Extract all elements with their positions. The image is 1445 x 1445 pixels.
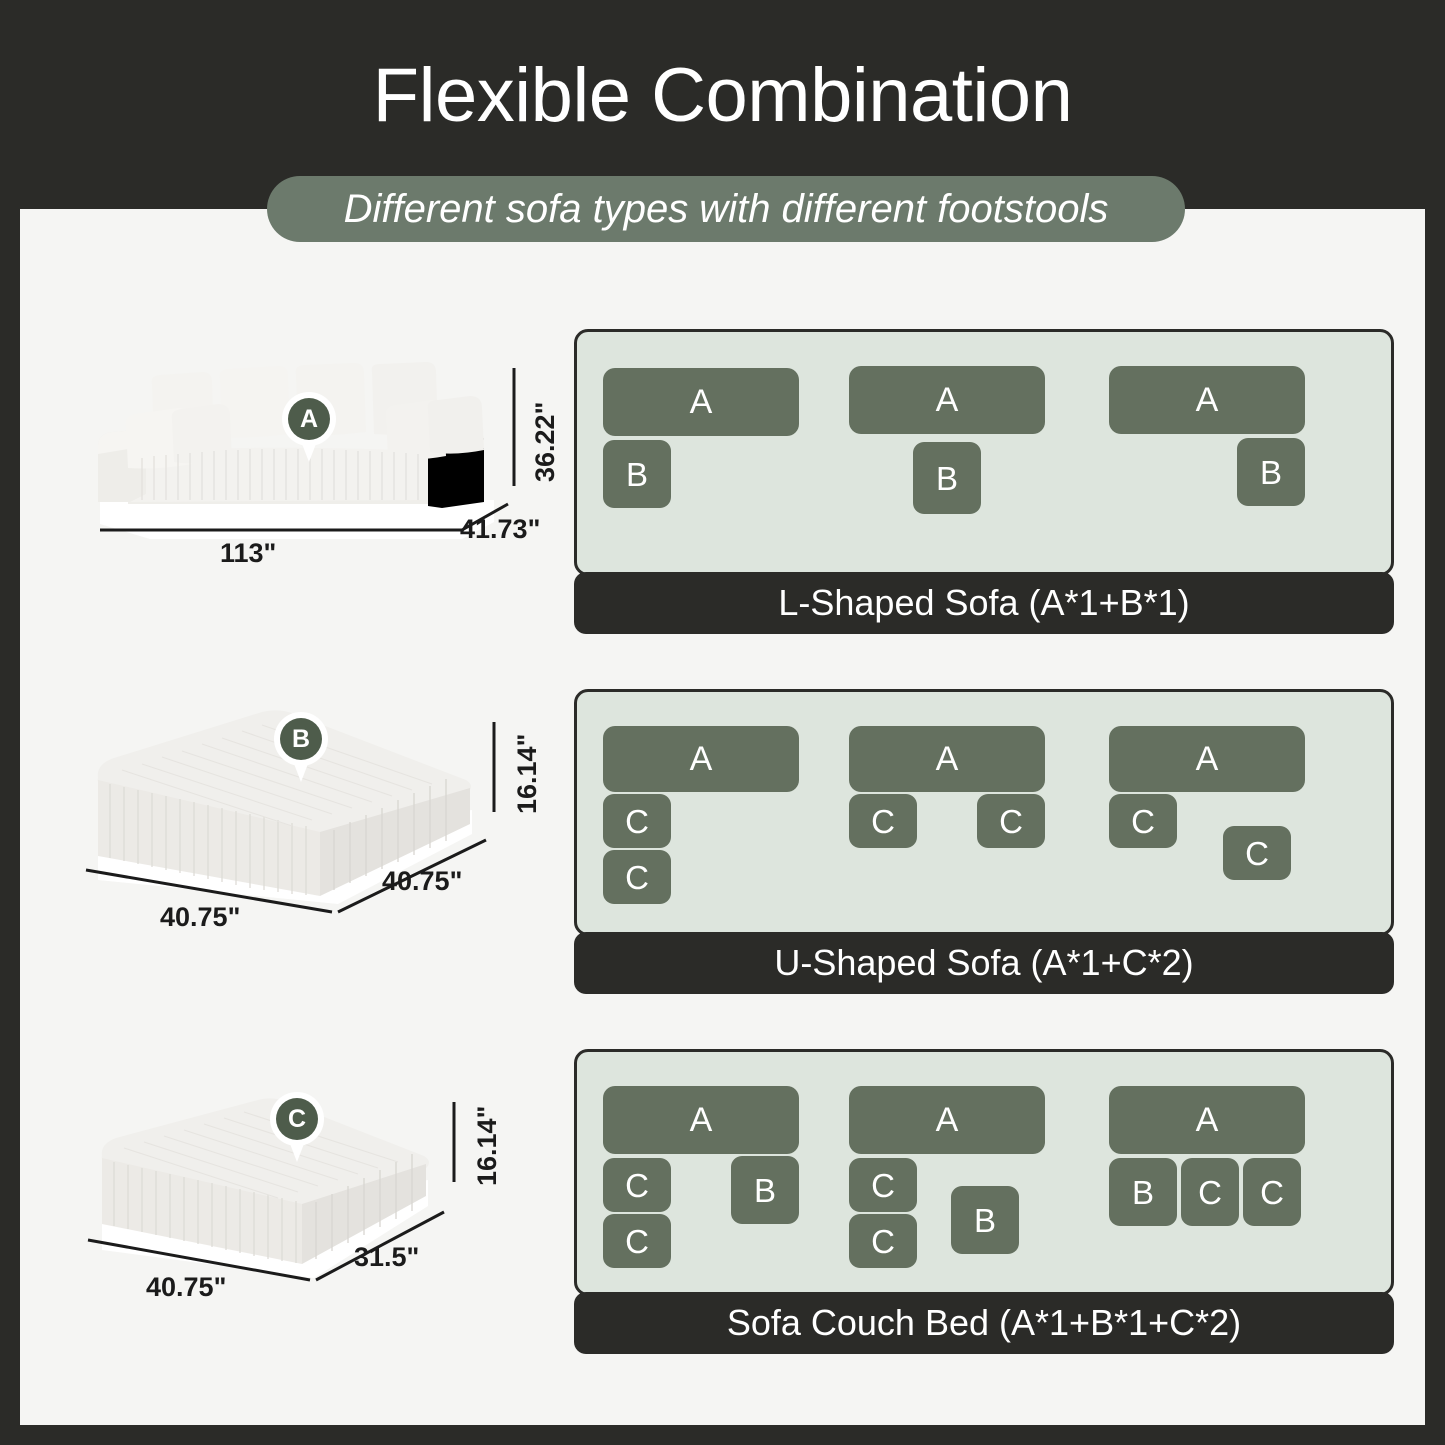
infographic-root: Flexible Combination Different sofa type… bbox=[0, 0, 1445, 1445]
content-sheet: A 113" 41.73" 36.22" bbox=[20, 209, 1425, 1425]
module-block-c: C bbox=[1109, 794, 1177, 848]
panel-board: ABABAB bbox=[574, 329, 1394, 576]
module-block-b: B bbox=[603, 440, 671, 508]
module-block-a: A bbox=[1109, 1086, 1305, 1154]
module-block-c: C bbox=[603, 794, 671, 848]
dim-depth-a: 41.73" bbox=[460, 514, 540, 545]
module-block-c: C bbox=[849, 1158, 917, 1212]
module-block-a: A bbox=[1109, 366, 1305, 434]
panel-caption: U-Shaped Sofa (A*1+C*2) bbox=[574, 932, 1394, 994]
pin-bubble: A bbox=[282, 392, 336, 446]
pin-label: C bbox=[276, 1098, 318, 1140]
panel-caption-label: Sofa Couch Bed (A*1+B*1+C*2) bbox=[727, 1303, 1241, 1343]
module-block-b: B bbox=[1109, 1158, 1177, 1226]
module-block-a: A bbox=[849, 726, 1045, 792]
dim-depth-b: 40.75" bbox=[382, 866, 462, 897]
module-block-b: B bbox=[951, 1186, 1019, 1254]
panel-caption-label: U-Shaped Sofa (A*1+C*2) bbox=[774, 943, 1193, 983]
dim-depth-c: 31.5" bbox=[354, 1242, 419, 1273]
dim-width-a: 113" bbox=[220, 538, 276, 569]
module-block-a: A bbox=[603, 1086, 799, 1154]
pin-marker-a: A bbox=[282, 392, 336, 462]
module-block-a: A bbox=[603, 726, 799, 792]
module-block-b: B bbox=[913, 442, 981, 514]
module-block-c: C bbox=[603, 850, 671, 904]
module-block-c: C bbox=[1243, 1158, 1301, 1226]
pin-label: B bbox=[280, 718, 322, 760]
page-title: Flexible Combination bbox=[0, 52, 1445, 140]
config-panel-l-shaped: ABABAB L-Shaped Sofa (A*1+B*1) bbox=[574, 329, 1394, 634]
module-block-a: A bbox=[603, 368, 799, 436]
panel-board: ACCBACCBABCC bbox=[574, 1049, 1394, 1296]
pin-marker-b: B bbox=[274, 712, 328, 782]
dim-height-c: 16.14" bbox=[472, 1106, 503, 1186]
product-card-a: A 113" 41.73" 36.22" bbox=[42, 334, 562, 634]
dim-height-a: 36.22" bbox=[530, 402, 561, 482]
pin-bubble: B bbox=[274, 712, 328, 766]
module-block-c: C bbox=[1223, 826, 1291, 880]
config-panel-u-shaped: ACCACCACC U-Shaped Sofa (A*1+C*2) bbox=[574, 689, 1394, 994]
module-block-a: A bbox=[849, 1086, 1045, 1154]
module-block-c: C bbox=[849, 1214, 917, 1268]
product-card-c: C 40.75" 31.5" 16.14" bbox=[62, 1064, 582, 1364]
module-block-c: C bbox=[603, 1158, 671, 1212]
dim-width-c: 40.75" bbox=[146, 1272, 226, 1303]
pin-marker-c: C bbox=[270, 1092, 324, 1162]
pin-bubble: C bbox=[270, 1092, 324, 1146]
sofa-illustration bbox=[42, 334, 562, 634]
pin-label: A bbox=[288, 398, 330, 440]
module-block-c: C bbox=[977, 794, 1045, 848]
config-panel-sofa-couch-bed: ACCBACCBABCC Sofa Couch Bed (A*1+B*1+C*2… bbox=[574, 1049, 1394, 1354]
module-block-c: C bbox=[849, 794, 917, 848]
module-block-c: C bbox=[603, 1214, 671, 1268]
dim-width-b: 40.75" bbox=[160, 902, 240, 933]
module-block-a: A bbox=[849, 366, 1045, 434]
module-block-b: B bbox=[731, 1156, 799, 1224]
panel-caption-label: L-Shaped Sofa (A*1+B*1) bbox=[778, 583, 1189, 623]
panel-board: ACCACCACC bbox=[574, 689, 1394, 936]
panel-caption: Sofa Couch Bed (A*1+B*1+C*2) bbox=[574, 1292, 1394, 1354]
subtitle-pill: Different sofa types with different foot… bbox=[267, 176, 1185, 242]
module-block-a: A bbox=[1109, 726, 1305, 792]
module-block-b: B bbox=[1237, 438, 1305, 506]
panel-caption: L-Shaped Sofa (A*1+B*1) bbox=[574, 572, 1394, 634]
dim-height-b: 16.14" bbox=[512, 734, 543, 814]
module-block-c: C bbox=[1181, 1158, 1239, 1226]
subtitle-text: Different sofa types with different foot… bbox=[344, 187, 1109, 231]
product-card-b: B 40.75" 40.75" 16.14" bbox=[62, 684, 582, 984]
